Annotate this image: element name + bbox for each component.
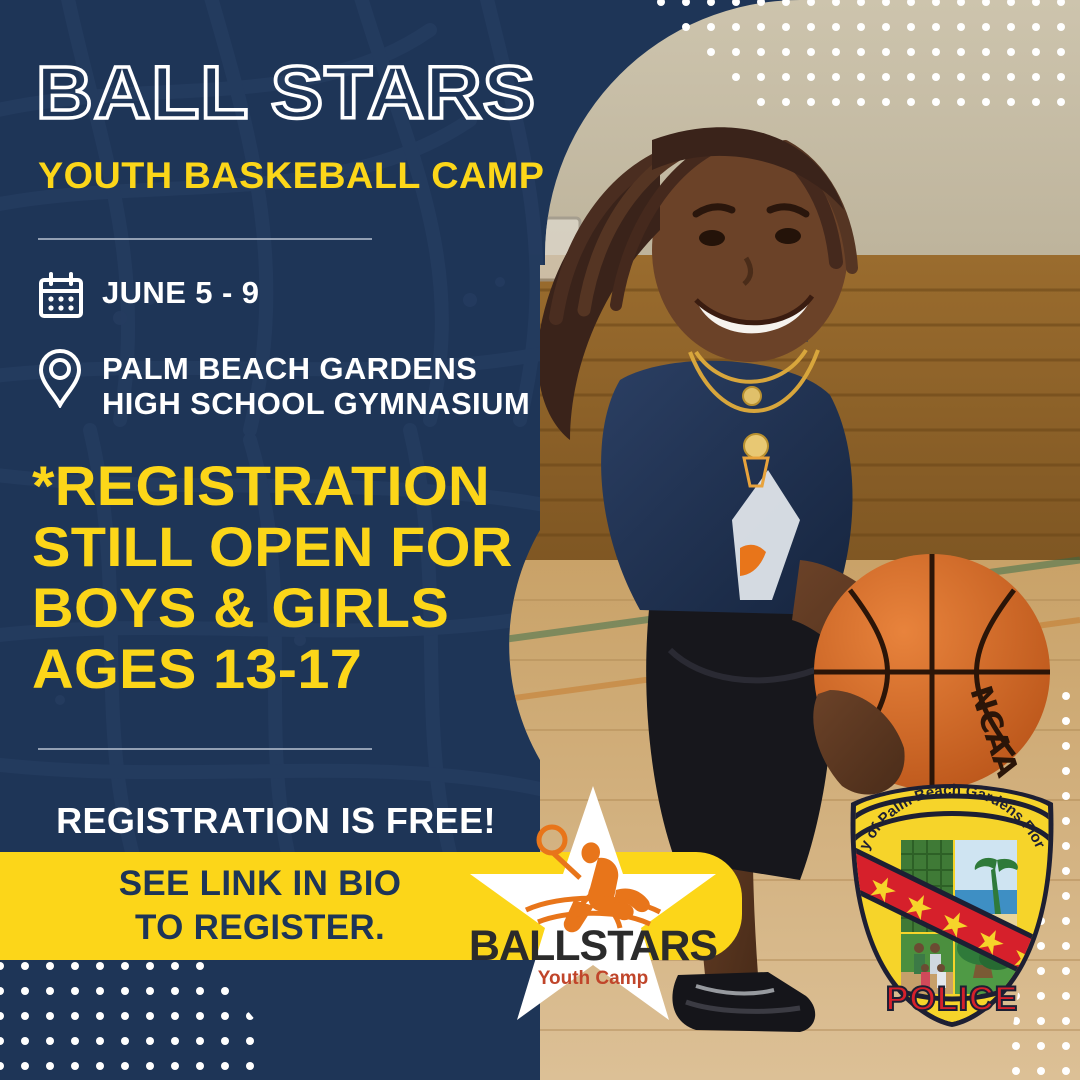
calendar-icon (38, 272, 84, 324)
detail-row-date: JUNE 5 - 9 (38, 272, 259, 324)
divider-bottom (38, 748, 372, 750)
location-value: PALM BEACH GARDENS HIGH SCHOOL GYMNASIUM (102, 348, 530, 421)
page-subtitle: YOUTH BASKEBALL CAMP (38, 155, 544, 197)
poster-canvas: NCAA (0, 0, 1080, 1080)
ballstars-logo: BALLSTARS Youth Camp (468, 782, 718, 1032)
badge-bottom-text: POLICE (886, 980, 1019, 1018)
divider-top (38, 238, 372, 240)
police-badge: City of Palm Beach Gardens Florida POLIC… (845, 782, 1060, 1027)
cta-banner-text: SEE LINK IN BIO TO REGISTER. (0, 862, 520, 950)
date-value: JUNE 5 - 9 (102, 272, 259, 311)
logo-tagline: Youth Camp (538, 968, 648, 989)
page-title: BALL STARS (36, 58, 536, 128)
detail-row-location: PALM BEACH GARDENS HIGH SCHOOL GYMNASIUM (38, 348, 530, 421)
free-registration-note: REGISTRATION IS FREE! (46, 800, 506, 842)
dot-grid-top-right (630, 0, 1080, 106)
logo-wordmark: BALLSTARS (469, 922, 717, 970)
headline-text: *REGISTRATION STILL OPEN FOR BOYS & GIRL… (32, 455, 547, 699)
map-pin-icon (38, 348, 84, 400)
